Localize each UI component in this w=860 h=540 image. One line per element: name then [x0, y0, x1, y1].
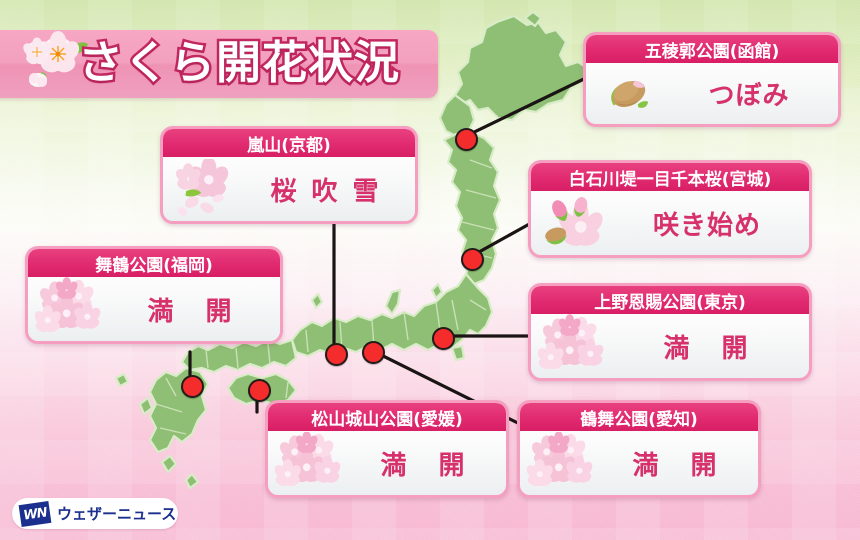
map-marker-fukuoka[interactable] — [181, 375, 204, 398]
callout-status-kyoto: 桜 吹 雪 — [243, 171, 409, 208]
callout-status-aichi: 満 開 — [600, 445, 752, 482]
logo-label: ウェザーニュース — [57, 503, 176, 524]
callout-body-ehime: 満 開 — [268, 431, 506, 495]
falling-petals-icon — [169, 157, 243, 221]
map-marker-aichi[interactable] — [362, 341, 385, 364]
map-marker-kyoto[interactable] — [325, 343, 348, 366]
wn-badge-text: WN — [22, 504, 47, 522]
callout-title-aichi: 鶴舞公園(愛知) — [520, 403, 758, 431]
map-marker-ehime[interactable] — [248, 379, 271, 402]
full-bloom-icon — [537, 314, 611, 378]
callout-status-fukuoka: 満 開 — [108, 291, 274, 328]
callout-body-miyagi: 咲き始め — [531, 191, 809, 255]
weathernews-logo[interactable]: WN ウェザーニュース — [12, 498, 178, 529]
infographic-canvas: さくら開花状況 五稜郭公園(函館) つぼみ 白石川堤一目千本桜(宮城) — [0, 0, 860, 540]
callout-status-ehime: 満 開 — [348, 445, 500, 482]
callout-body-fukuoka: 満 開 — [28, 277, 280, 341]
callout-card-kyoto[interactable]: 嵐山(京都) — [160, 126, 418, 224]
callout-title-kyoto: 嵐山(京都) — [163, 129, 415, 157]
callout-status-hakodate: つぼみ — [666, 75, 832, 112]
callout-card-ehime[interactable]: 松山城山公園(愛媛) 満 開 — [265, 400, 509, 498]
callout-status-miyagi: 咲き始め — [611, 205, 803, 242]
callout-title-tokyo: 上野恩賜公園(東京) — [531, 286, 809, 314]
full-bloom-icon — [274, 431, 348, 495]
callout-body-tokyo: 満 開 — [531, 314, 809, 378]
bud-icon — [592, 63, 666, 124]
callout-title-miyagi: 白石川堤一目千本桜(宮城) — [531, 163, 809, 191]
map-marker-tokyo[interactable] — [432, 327, 455, 350]
wn-badge-icon: WN — [19, 501, 52, 527]
callout-card-fukuoka[interactable]: 舞鶴公園(福岡) 満 開 — [25, 246, 283, 344]
callout-title-ehime: 松山城山公園(愛媛) — [268, 403, 506, 431]
callout-title-hakodate: 五稜郭公園(函館) — [586, 35, 838, 63]
connector-hakodate — [464, 77, 588, 137]
callout-card-tokyo[interactable]: 上野恩賜公園(東京) 満 開 — [528, 283, 812, 381]
callout-body-hakodate: つぼみ — [586, 63, 838, 124]
callout-status-tokyo: 満 開 — [611, 328, 803, 365]
first-bloom-icon — [537, 191, 611, 255]
callout-body-aichi: 満 開 — [520, 431, 758, 495]
full-bloom-icon — [34, 277, 108, 341]
callout-card-hakodate[interactable]: 五稜郭公園(函館) つぼみ — [583, 32, 841, 127]
map-marker-hakodate[interactable] — [455, 128, 478, 151]
map-marker-miyagi[interactable] — [461, 248, 484, 271]
callout-body-kyoto: 桜 吹 雪 — [163, 157, 415, 221]
callout-title-fukuoka: 舞鶴公園(福岡) — [28, 249, 280, 277]
callout-card-aichi[interactable]: 鶴舞公園(愛知) 満 開 — [517, 400, 761, 498]
page-title: さくら開花状況 — [78, 33, 400, 93]
full-bloom-icon — [526, 431, 600, 495]
callout-card-miyagi[interactable]: 白石川堤一目千本桜(宮城) — [528, 160, 812, 258]
